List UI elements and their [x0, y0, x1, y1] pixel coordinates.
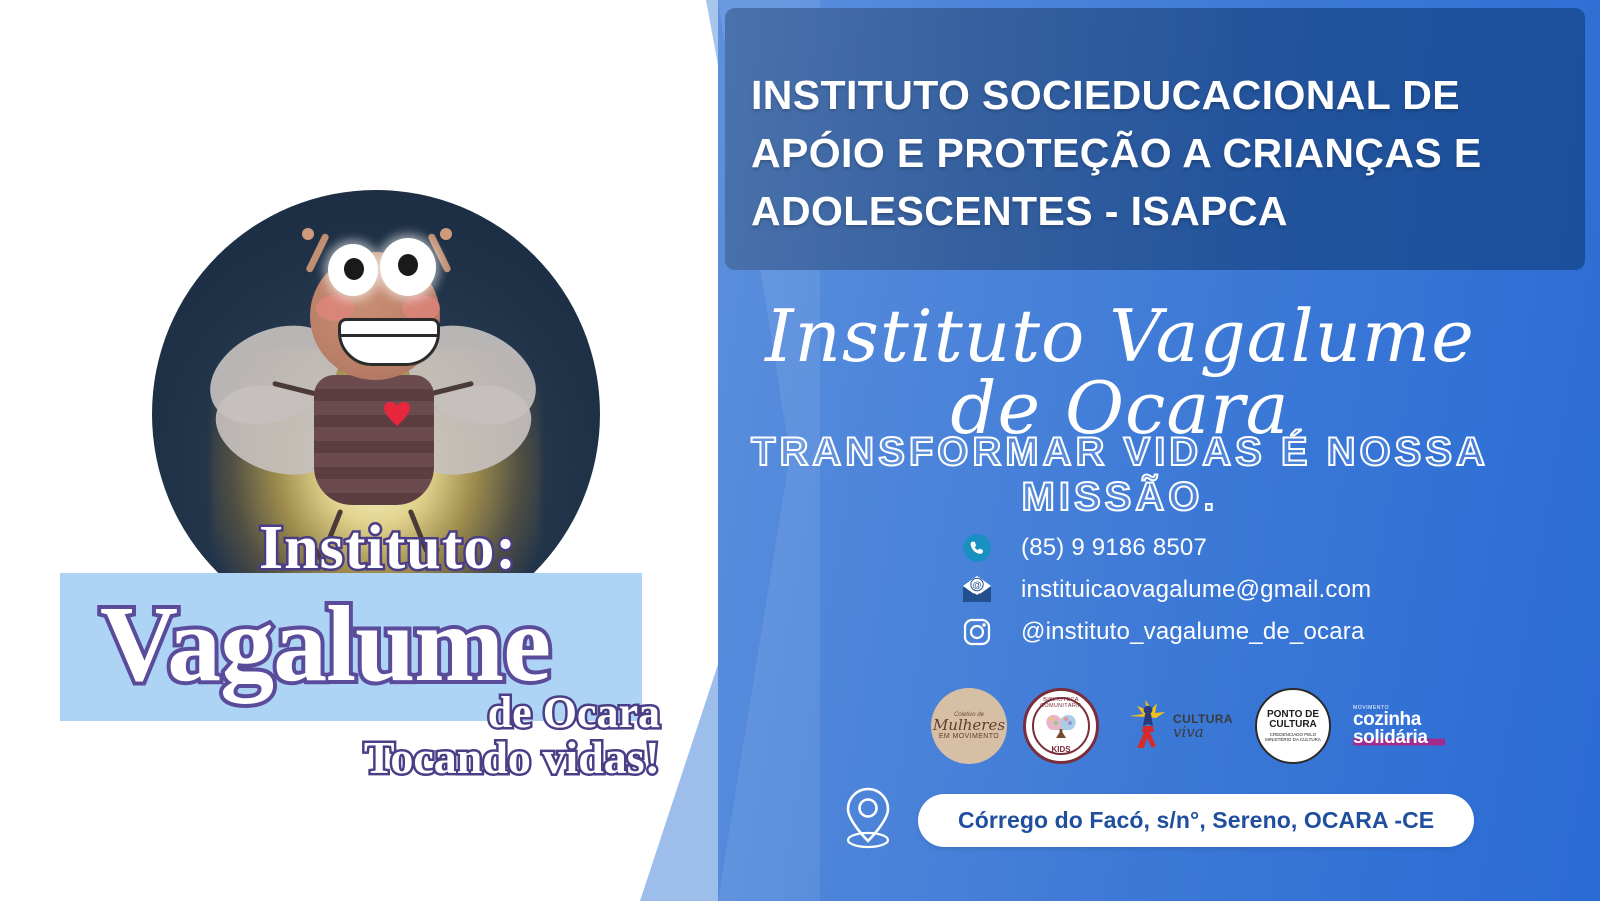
- partner-mulheres-line3: EM MOVIMENTO: [933, 733, 1005, 740]
- firefly-pupil-left: [344, 258, 364, 280]
- phone-icon: [955, 533, 999, 563]
- partner-biblio-name: KIDS: [1026, 745, 1096, 754]
- firefly-antenna-tip-left: [302, 228, 314, 240]
- email-icon: @: [955, 575, 999, 605]
- partner-ponto-line2: CULTURA: [1269, 719, 1317, 730]
- cultura-viva-mark: [1123, 700, 1169, 752]
- firefly-antenna-tip-right: [440, 228, 452, 240]
- logo-line-instituto: Instituto:: [178, 513, 598, 584]
- contact-row-phone[interactable]: (85) 9 9186 8507: [955, 528, 1515, 568]
- svg-text:@: @: [972, 580, 981, 590]
- partner-logos: Coletivo de Mulheres EM MOVIMENTO BIBLIO…: [925, 688, 1445, 768]
- partner-cozinha-line2: solidária: [1353, 729, 1445, 747]
- institutional-banner: Instituto: Vagalume de Ocara Tocando vid…: [0, 0, 1600, 901]
- contact-row-email[interactable]: @ instituicaovagalume@gmail.com: [955, 570, 1515, 610]
- email-address: instituicaovagalume@gmail.com: [999, 576, 1371, 604]
- partner-cultura-line2: viva: [1173, 725, 1233, 740]
- address-text: Córrego do Facó, s/n°, Sereno, OCARA -CE: [918, 794, 1474, 847]
- partner-mulheres-line2: Mulheres: [933, 718, 1005, 733]
- partner-ponto-line3: CREDENCIADO PELO MINISTÉRIO DA CULTURA: [1257, 733, 1329, 743]
- instagram-icon: [955, 618, 999, 646]
- partner-ponto-line1: PONTO DE: [1267, 709, 1319, 720]
- phone-number: (85) 9 9186 8507: [999, 534, 1207, 562]
- instagram-handle: @instituto_vagalume_de_ocara: [999, 618, 1365, 646]
- partner-logo-ponto-de-cultura: PONTO DE CULTURA CREDENCIADO PELO MINIST…: [1255, 688, 1331, 764]
- contact-list: (85) 9 9186 8507 @ instituicaovagalume@g…: [955, 528, 1515, 654]
- organization-logo: Instituto: Vagalume de Ocara Tocando vid…: [60, 175, 660, 795]
- partner-logo-biblioteca-kids: BIBLIOTECA COMUNITÁRIA KIDS: [1023, 688, 1099, 764]
- partner-biblio-ring-text: BIBLIOTECA COMUNITÁRIA: [1026, 697, 1096, 709]
- organization-script-name: Instituto Vagalume de Ocara: [725, 300, 1515, 444]
- firefly-pupil-right: [398, 254, 418, 276]
- mission-statement: TRANSFORMAR VIDAS É NOSSA MISSÃO.: [725, 430, 1515, 520]
- partner-logo-coletivo-mulheres: Coletivo de Mulheres EM MOVIMENTO: [931, 688, 1007, 764]
- organization-full-name: INSTITUTO SOCIEDUCACIONAL DE APÓIO E PRO…: [751, 66, 1551, 241]
- contact-row-instagram[interactable]: @instituto_vagalume_de_ocara: [955, 612, 1515, 652]
- partner-logo-cozinha-solidaria: MOVIMENTO cozinha solidária: [1353, 688, 1445, 764]
- header-banner: INSTITUTO SOCIEDUCACIONAL DE APÓIO E PRO…: [725, 8, 1585, 270]
- firefly-body: [314, 375, 434, 505]
- firefly-smile: [338, 318, 440, 366]
- partner-logo-cultura-viva: CULTURA viva: [1123, 688, 1243, 764]
- map-pin-icon: [840, 785, 896, 856]
- address-block: Córrego do Facó, s/n°, Sereno, OCARA -CE: [840, 780, 1480, 860]
- logo-line-tagline: Tocando vidas!: [260, 731, 660, 784]
